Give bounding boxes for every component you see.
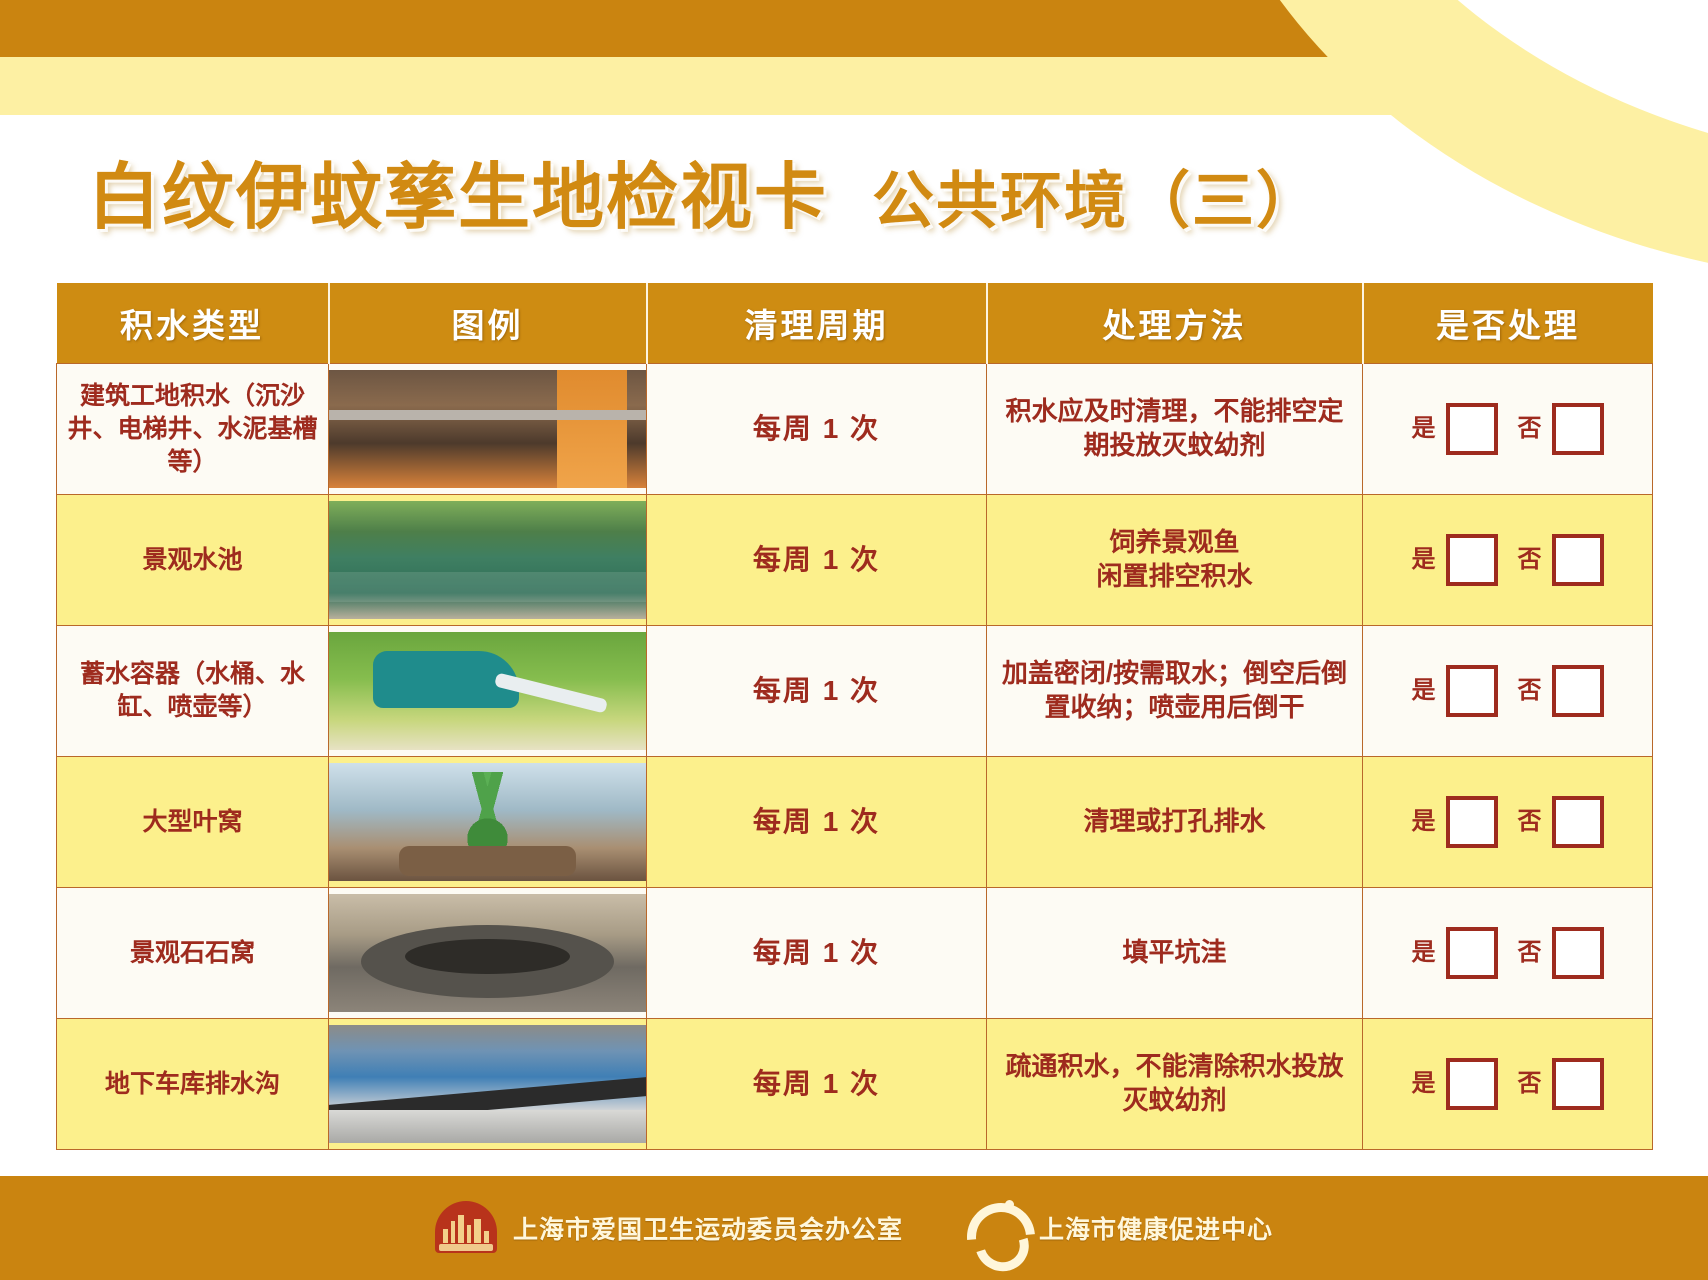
underground-garage-drain-image [329,1025,646,1143]
checkbox-yes[interactable]: 是 [1412,665,1498,717]
cell-cleaning-cycle: 每周 1 次 [647,626,987,757]
cell-handled: 是 否 [1363,888,1653,1019]
footer-org-left: 上海市爱国卫生运动委员会办公室 [435,1197,903,1259]
cell-cleaning-cycle: 每周 1 次 [647,364,987,495]
checkbox-yes-box[interactable] [1446,927,1498,979]
header-cleaning-cycle: 清理周期 [647,283,987,364]
checkbox-no[interactable]: 否 [1518,1058,1604,1110]
inspection-table-wrapper: 积水类型 图例 清理周期 处理方法 是否处理 建筑工地积水（沉沙井、电梯井、水泥… [56,283,1652,1150]
checkbox-no-label: 否 [1518,544,1542,576]
cell-handled: 是 否 [1363,757,1653,888]
cell-treatment: 饲养景观鱼闲置排空积水 [987,495,1363,626]
footer-org-right-text: 上海市健康促进中心 [1039,1210,1273,1246]
health-promotion-swirl-icon [961,1197,1023,1259]
cell-handled: 是 否 [1363,364,1653,495]
checkbox-no-box[interactable] [1552,1058,1604,1110]
checkbox-no-label: 否 [1518,806,1542,838]
checkbox-no-label: 否 [1518,413,1542,445]
table-head: 积水类型 图例 清理周期 处理方法 是否处理 [57,283,1653,364]
table-header-row: 积水类型 图例 清理周期 处理方法 是否处理 [57,283,1653,364]
shanghai-patriotic-health-emblem-icon [435,1197,497,1259]
title-subtitle: 公共环境（三） [872,150,1320,240]
cell-water-type: 蓄水容器（水桶、水缸、喷壶等） [57,626,329,757]
cell-water-type: 景观石石窝 [57,888,329,1019]
cell-handled: 是 否 [1363,1019,1653,1150]
header-water-type: 积水类型 [57,283,329,364]
checkbox-yes-label: 是 [1412,1068,1436,1100]
checkbox-no[interactable]: 否 [1518,403,1604,455]
cell-cleaning-cycle: 每周 1 次 [647,888,987,1019]
checkbox-yes[interactable]: 是 [1412,927,1498,979]
checkbox-yes-label: 是 [1412,413,1436,445]
table-row: 景观石石窝 每周 1 次 填平坑洼 是 否 [57,888,1653,1019]
checkbox-no-box[interactable] [1552,927,1604,979]
cell-treatment: 填平坑洼 [987,888,1363,1019]
header-treatment: 处理方法 [987,283,1363,364]
cell-water-type: 景观水池 [57,495,329,626]
checkbox-no-box[interactable] [1552,796,1604,848]
checkbox-no[interactable]: 否 [1518,665,1604,717]
cell-handled: 是 否 [1363,626,1653,757]
checkbox-yes-box[interactable] [1446,1058,1498,1110]
checkbox-no[interactable]: 否 [1518,927,1604,979]
header-illustration: 图例 [329,283,647,364]
poster-title: 白纹伊蚊孳生地检视卡 公共环境（三） [88,138,1320,243]
checkbox-no-label: 否 [1518,937,1542,969]
table-row: 蓄水容器（水桶、水缸、喷壶等） 每周 1 次 加盖密闭/按需取水；倒空后倒置收纳… [57,626,1653,757]
cell-cleaning-cycle: 每周 1 次 [647,1019,987,1150]
table-body: 建筑工地积水（沉沙井、电梯井、水泥基槽等） 每周 1 次 积水应及时清理，不能排… [57,364,1653,1150]
cell-treatment: 加盖密闭/按需取水；倒空后倒置收纳；喷壶用后倒干 [987,626,1363,757]
checkbox-yes[interactable]: 是 [1412,403,1498,455]
cell-illustration [329,364,647,495]
checkbox-no[interactable]: 否 [1518,534,1604,586]
cell-cleaning-cycle: 每周 1 次 [647,757,987,888]
title-main: 白纹伊蚊孳生地检视卡 [88,138,828,243]
cell-treatment: 清理或打孔排水 [987,757,1363,888]
cell-cleaning-cycle: 每周 1 次 [647,495,987,626]
checkbox-yes-box[interactable] [1446,665,1498,717]
checkbox-no-label: 否 [1518,675,1542,707]
checkbox-no-box[interactable] [1552,665,1604,717]
cell-illustration [329,626,647,757]
cell-illustration [329,495,647,626]
footer-org-left-text: 上海市爱国卫生运动委员会办公室 [513,1210,903,1246]
table-row: 景观水池 每周 1 次 饲养景观鱼闲置排空积水 是 否 [57,495,1653,626]
landscape-stone-hollow-image [329,894,646,1012]
checkbox-no-box[interactable] [1552,403,1604,455]
cell-water-type: 大型叶窝 [57,757,329,888]
cell-treatment: 积水应及时清理，不能排空定期投放灭蚊幼剂 [987,364,1363,495]
checkbox-yes[interactable]: 是 [1412,534,1498,586]
cell-water-type: 建筑工地积水（沉沙井、电梯井、水泥基槽等） [57,364,329,495]
table-row: 建筑工地积水（沉沙井、电梯井、水泥基槽等） 每周 1 次 积水应及时清理，不能排… [57,364,1653,495]
cell-water-type: 地下车库排水沟 [57,1019,329,1150]
landscape-pond-image [329,501,646,619]
construction-site-water-image [329,370,646,488]
checkbox-yes-label: 是 [1412,806,1436,838]
cell-illustration [329,888,647,1019]
footer-bar: 上海市爱国卫生运动委员会办公室 上海市健康促进中心 [0,1176,1708,1280]
header-handled: 是否处理 [1363,283,1653,364]
table-row: 地下车库排水沟 每周 1 次 疏通积水，不能清除积水投放灭蚊幼剂 是 否 [57,1019,1653,1150]
table-row: 大型叶窝 每周 1 次 清理或打孔排水 是 否 [57,757,1653,888]
watering-can-image [329,632,646,750]
checkbox-yes-label: 是 [1412,544,1436,576]
checkbox-yes-label: 是 [1412,937,1436,969]
checkbox-yes-label: 是 [1412,675,1436,707]
checkbox-yes[interactable]: 是 [1412,1058,1498,1110]
checkbox-yes-box[interactable] [1446,534,1498,586]
footer-org-right: 上海市健康促进中心 [961,1197,1273,1259]
cell-illustration [329,1019,647,1150]
checkbox-no-box[interactable] [1552,534,1604,586]
poster-root: 白纹伊蚊孳生地检视卡 公共环境（三） 积水类型 图例 清理周期 处理方法 是否处… [0,0,1708,1280]
inspection-table: 积水类型 图例 清理周期 处理方法 是否处理 建筑工地积水（沉沙井、电梯井、水泥… [56,283,1653,1150]
large-leaf-axil-image [329,763,646,881]
checkbox-no[interactable]: 否 [1518,796,1604,848]
cell-handled: 是 否 [1363,495,1653,626]
cell-illustration [329,757,647,888]
checkbox-yes[interactable]: 是 [1412,796,1498,848]
checkbox-yes-box[interactable] [1446,796,1498,848]
cell-treatment: 疏通积水，不能清除积水投放灭蚊幼剂 [987,1019,1363,1150]
checkbox-yes-box[interactable] [1446,403,1498,455]
checkbox-no-label: 否 [1518,1068,1542,1100]
